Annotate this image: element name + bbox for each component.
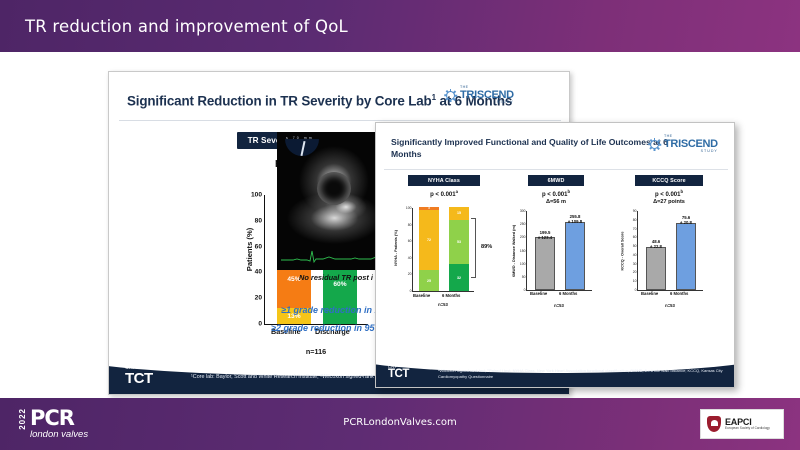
nyha-chart: NYHA Class p < 0.001a NYHA - Patients (%… bbox=[394, 175, 494, 306]
slide1-divider bbox=[119, 120, 561, 121]
ytick: 40 bbox=[408, 256, 413, 260]
tct-logo-slide2: CRF TCT bbox=[388, 365, 409, 381]
xtick: Baseline bbox=[641, 291, 658, 296]
nyha-bar-baseline: 3 72 25 Baseline bbox=[419, 207, 439, 291]
ytick: 150 bbox=[520, 249, 527, 253]
ytick: 20 bbox=[408, 272, 413, 276]
sixmwd-bar-baseline: Baseline bbox=[535, 237, 555, 290]
ytick: 80 bbox=[408, 223, 413, 227]
nyha-pvalue-text: p < 0.001 bbox=[430, 192, 456, 198]
ytick: 60 bbox=[633, 235, 638, 239]
ecg-trace-icon bbox=[281, 248, 388, 264]
sixmwd-plot: 6MWD - Distance Walked (m) 300 250 200 1… bbox=[506, 209, 606, 309]
ytick: 80 bbox=[633, 218, 638, 222]
slide1-title-text: Significant Reduction in TR Severity by … bbox=[127, 93, 432, 108]
ytick: 60 bbox=[408, 239, 413, 243]
xtick: Baseline bbox=[530, 291, 547, 296]
sixmwd-n: n=53 bbox=[526, 303, 592, 308]
tr-severity-n: n=116 bbox=[264, 347, 368, 356]
heart-shield-icon bbox=[707, 416, 721, 432]
sixmwd-value-baseline: 199.5 ± 123.4 bbox=[530, 230, 560, 241]
xtick: 6 Months bbox=[442, 293, 460, 298]
bar-segment: 25 bbox=[419, 270, 439, 291]
slide-canvas: Significant Reduction in TR Severity by … bbox=[0, 52, 800, 398]
ytick: 90 bbox=[633, 209, 638, 213]
triscend-burst-icon bbox=[444, 89, 457, 102]
xtick: 6 Months bbox=[670, 291, 688, 296]
pcr-brand-sub: london valves bbox=[30, 430, 88, 440]
tct-logo-slide1: CRF TCT bbox=[125, 366, 153, 386]
ytick: 100 bbox=[520, 262, 527, 266]
bar-segment: 72 bbox=[419, 210, 439, 271]
xtick: 6 Months bbox=[559, 291, 577, 296]
kccq-chart: KCCQ Score p < 0.001b Δ=27 points KCCQ -… bbox=[619, 175, 719, 309]
nyha-annotation: 89% bbox=[481, 244, 492, 250]
kccq-value-6months: 75.6 ± 20.8 bbox=[671, 215, 701, 226]
slide2-footer: CRF TCT ᵃWilcoxon signed-rank test; ᵇPai… bbox=[376, 357, 735, 387]
ytick: 0 bbox=[635, 288, 638, 292]
kccq-n: n=53 bbox=[637, 303, 703, 308]
tct-label: TCT bbox=[125, 371, 153, 386]
sixmwd-chart: 6MWD p < 0.001b Δ=56 m 6MWD - Distance W… bbox=[506, 175, 606, 309]
kccq-plot: KCCQ - Overall Score 90 80 70 60 50 40 3… bbox=[619, 209, 719, 309]
kccq-ylabel: KCCQ - Overall Score bbox=[621, 231, 625, 270]
ytick: 60 bbox=[255, 243, 265, 250]
kccq-pvalue: p < 0.001b bbox=[619, 189, 719, 198]
triscend-logo-text: THE TRISCEND STUDY bbox=[664, 135, 718, 154]
bar-segment: 32 bbox=[449, 264, 469, 291]
nyha-n: n=53 bbox=[412, 302, 474, 307]
bar-segment: 53 bbox=[449, 220, 469, 265]
nyha-bar-6months: 15 53 32 6 Months bbox=[449, 207, 469, 291]
nyha-title: NYHA Class bbox=[408, 175, 480, 186]
ytick: 50 bbox=[522, 275, 527, 279]
ytick: 40 bbox=[633, 253, 638, 257]
slide2-title: Significantly Improved Functional and Qu… bbox=[391, 137, 676, 160]
sixmwd-pvalue-sup: b bbox=[567, 189, 570, 194]
triscend-study: STUDY bbox=[664, 150, 718, 154]
triscend-logo-slide1: THE TRISCEND STUDY bbox=[444, 86, 514, 105]
ytick: 100 bbox=[406, 206, 413, 210]
xtick: Baseline bbox=[413, 293, 430, 298]
tct-label: TCT bbox=[388, 369, 409, 381]
ytick: 80 bbox=[255, 217, 265, 224]
triscend-study: STUDY bbox=[460, 101, 514, 105]
kccq-bar-baseline: Baseline bbox=[646, 247, 666, 290]
kccq-pvalue-text: p < 0.001 bbox=[655, 192, 681, 198]
kccq-value-baseline: 48.6 ± 22.8 bbox=[641, 239, 671, 250]
kccq-pvalue-sup: b bbox=[680, 189, 683, 194]
nyha-bracket bbox=[471, 218, 476, 278]
eapci-subtitle: European Society of Cardiology bbox=[725, 427, 770, 431]
page-header: TR reduction and improvement of QoL bbox=[0, 0, 800, 52]
nyha-pvalue-sup: a bbox=[456, 189, 458, 194]
ytick: 300 bbox=[520, 209, 527, 213]
page-title: TR reduction and improvement of QoL bbox=[0, 17, 348, 36]
sixmwd-pvalue-text: p < 0.001 bbox=[542, 192, 568, 198]
footer-url[interactable]: PCRLondonValves.com bbox=[0, 417, 800, 428]
sixmwd-axes: 300 250 200 150 100 50 0 Baseline 199.5 … bbox=[526, 211, 592, 291]
triscend-burst-icon bbox=[648, 138, 661, 151]
ytick: 0 bbox=[258, 321, 265, 328]
sixmwd-title: 6MWD bbox=[528, 175, 584, 186]
nyha-plot: NYHA - Patients (%) 100 80 60 40 20 0 3 … bbox=[394, 202, 494, 306]
nyha-pvalue: p < 0.001a bbox=[394, 189, 494, 198]
ytick: 250 bbox=[520, 222, 527, 226]
eapci-logo[interactable]: EAPCI European Society of Cardiology bbox=[700, 409, 784, 439]
ytick: 0 bbox=[524, 288, 527, 292]
sixmwd-delta: Δ=56 m bbox=[506, 199, 606, 205]
nyha-axes: 100 80 60 40 20 0 3 72 25 Baseline bbox=[412, 208, 474, 292]
kccq-axes: 90 80 70 60 50 40 30 20 10 0 Baseline 4 bbox=[637, 211, 703, 291]
eapci-text: EAPCI European Society of Cardiology bbox=[725, 417, 770, 431]
ytick: 20 bbox=[633, 270, 638, 274]
page-footer: 2022 PCR london valves PCRLondonValves.c… bbox=[0, 398, 800, 450]
ytick: 40 bbox=[255, 269, 265, 276]
kccq-title: KCCQ Score bbox=[635, 175, 703, 186]
sixmwd-pvalue: p < 0.001b bbox=[506, 189, 606, 198]
bar-segment: 15 bbox=[449, 207, 469, 220]
sixmwd-bar-6months: 6 Months bbox=[565, 222, 585, 290]
slide-page: TR reduction and improvement of QoL Sign… bbox=[0, 0, 800, 450]
ytick: 10 bbox=[633, 279, 638, 283]
slide-qol-outcomes[interactable]: Significantly Improved Functional and Qu… bbox=[375, 122, 735, 388]
echo-scale-text: s 70 mm bbox=[286, 136, 314, 140]
tr-severity-ylabel: Patients (%) bbox=[245, 228, 254, 271]
ytick: 30 bbox=[633, 262, 638, 266]
slide2-footnote: ᵃWilcoxon signed-rank test; ᵇPaired t te… bbox=[438, 368, 723, 380]
ytick: 50 bbox=[633, 244, 638, 248]
ytick: 70 bbox=[633, 227, 638, 231]
reduction-note-1: ≥1 grade reduction in 10 bbox=[281, 305, 384, 315]
triscend-logo-slide2: THE TRISCEND STUDY bbox=[648, 135, 718, 154]
kccq-bar-6months: 6 Months bbox=[676, 223, 696, 290]
nyha-ylabel: NYHA - Patients (%) bbox=[394, 230, 398, 266]
reduction-note-2: ≥2 grade reduction in 95% bbox=[271, 323, 382, 333]
sixmwd-value-6months: 255.8 ± 109.8 bbox=[560, 214, 590, 225]
ytick: 200 bbox=[520, 235, 527, 239]
slide2-divider bbox=[384, 169, 728, 170]
sixmwd-ylabel: 6MWD - Distance Walked (m) bbox=[512, 225, 516, 277]
ytick: 100 bbox=[251, 192, 265, 199]
kccq-delta: Δ=27 points bbox=[619, 199, 719, 205]
triscend-logo-text: THE TRISCEND STUDY bbox=[460, 86, 514, 105]
ytick: 20 bbox=[255, 295, 265, 302]
